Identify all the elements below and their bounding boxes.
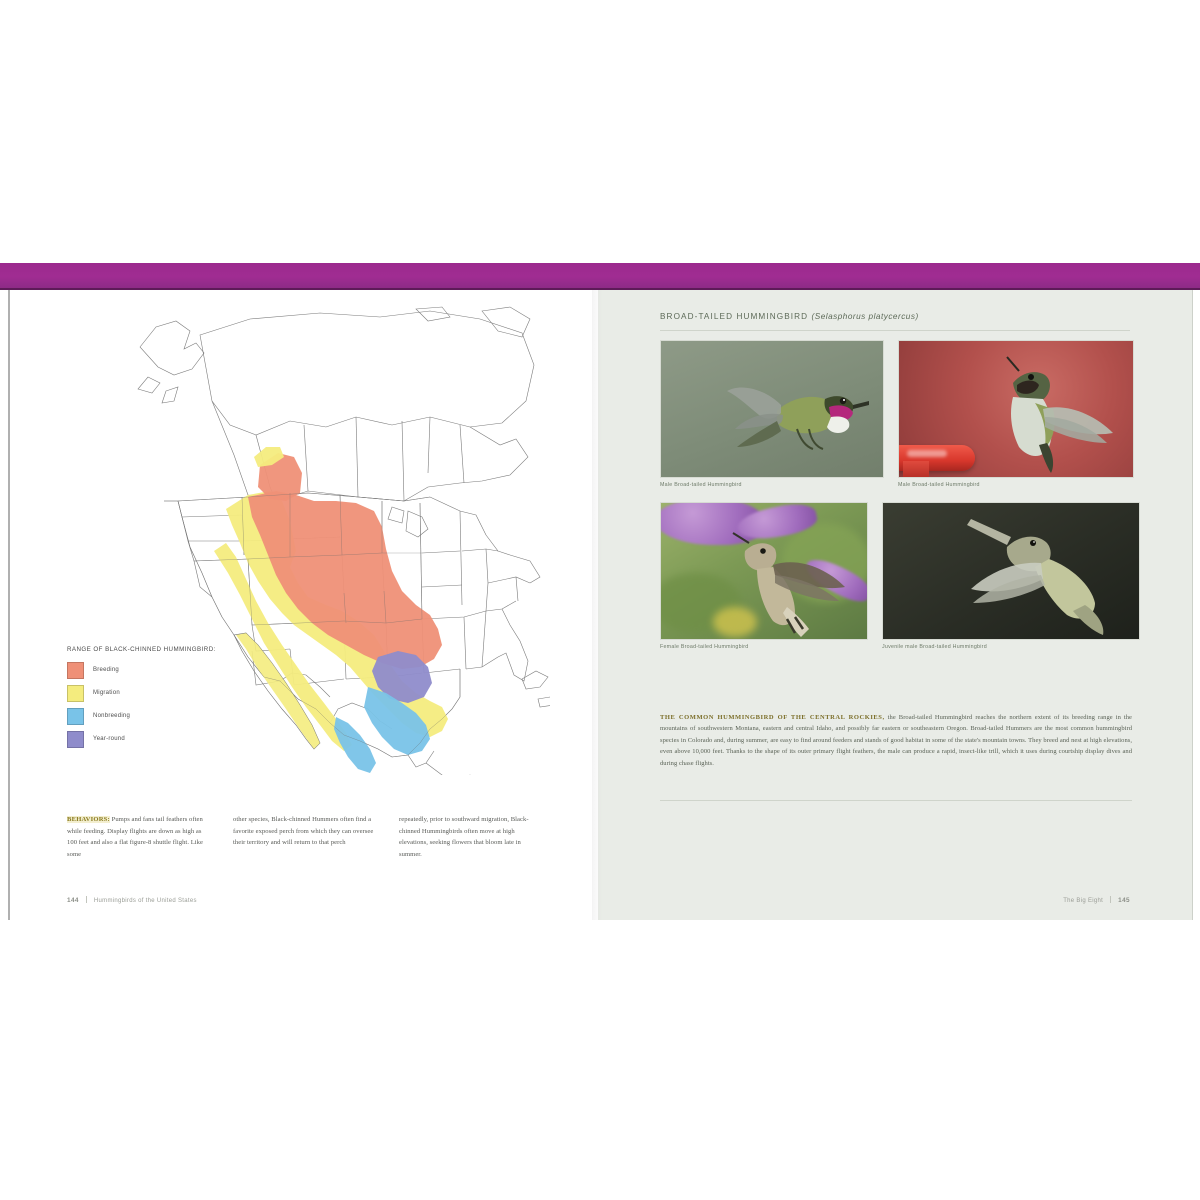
- legend-swatch-breeding: [67, 662, 84, 679]
- footer-divider-right: [1110, 896, 1111, 903]
- book-spread: RANGE OF BLACK-CHINNED HUMMINGBIRD: Bree…: [0, 263, 1200, 920]
- left-running-footer: Hummingbirds of the United States: [94, 898, 197, 904]
- left-folio-number: 144: [67, 897, 79, 904]
- photo-male-feeder: [898, 340, 1134, 478]
- right-page: BROAD-TAILED HUMMINGBIRD (Selasphorus pl…: [598, 290, 1193, 920]
- legend-item-breeding: Breeding: [67, 663, 227, 678]
- feeder-highlight: [907, 450, 947, 457]
- photo-caption-2: Male Broad-tailed Hummingbird: [898, 482, 1134, 488]
- hummingbird-illustration-3: [717, 529, 857, 639]
- photo-female-bush: [660, 502, 868, 640]
- map-legend: RANGE OF BLACK-CHINNED HUMMINGBIRD: Bree…: [67, 645, 227, 755]
- legend-label-year-round: Year-round: [93, 736, 125, 742]
- legend-swatch-migration: [67, 685, 84, 702]
- legend-item-nonbreeding: Nonbreeding: [67, 709, 227, 724]
- photo-cell-1: Male Broad-tailed Hummingbird: [660, 340, 884, 496]
- legend-label-nonbreeding: Nonbreeding: [93, 713, 130, 719]
- text-column-3: repeatedly, prior to southward migration…: [399, 814, 545, 860]
- photo-cell-2: Male Broad-tailed Hummingbird: [898, 340, 1134, 496]
- photo-cell-4: Juvenile male Broad-tailed Hummingbird: [882, 502, 1140, 658]
- hummingbird-illustration-4: [937, 519, 1127, 635]
- legend-item-year-round: Year-round: [67, 732, 227, 747]
- right-body-text: THE COMMON HUMMINGBIRD OF THE CENTRAL RO…: [660, 712, 1132, 769]
- behaviors-col3: repeatedly, prior to southward migration…: [399, 814, 545, 860]
- text-column-2: other species, Black-chinned Hummers oft…: [233, 814, 379, 860]
- species-common-name: BROAD-TAILED HUMMINGBIRD: [660, 312, 808, 321]
- legend-label-migration: Migration: [93, 690, 120, 696]
- behaviors-col2: other species, Black-chinned Hummers oft…: [233, 814, 379, 849]
- feeder-tube: [903, 461, 929, 478]
- right-running-footer: The Big Eight: [1063, 898, 1103, 904]
- heading-rule: [660, 330, 1130, 331]
- photo-row-bottom: Female Broad-tailed Hummingbird: [660, 502, 1136, 658]
- photo-row-top: Male Broad-tailed Hummingbird: [660, 340, 1136, 496]
- species-scientific-name: (Selasphorus platycercus): [812, 312, 919, 321]
- species-description: the Broad-tailed Hummingbird reaches the…: [660, 714, 1132, 767]
- photo-caption-3: Female Broad-tailed Hummingbird: [660, 644, 868, 650]
- purple-banner: [0, 263, 1200, 288]
- hummingbird-feeder: [898, 445, 975, 471]
- photo-caption-4: Juvenile male Broad-tailed Hummingbird: [882, 644, 1140, 650]
- legend-swatch-nonbreeding: [67, 708, 84, 725]
- hummingbird-illustration-2: [973, 355, 1123, 473]
- photo-grid: Male Broad-tailed Hummingbird: [660, 340, 1136, 664]
- left-page: RANGE OF BLACK-CHINNED HUMMINGBIRD: Bree…: [8, 290, 600, 920]
- legend-swatch-year-round: [67, 731, 84, 748]
- text-column-1: BEHAVIORS: Pumps and fans tail feathers …: [67, 814, 213, 860]
- right-folio-number: 145: [1118, 897, 1130, 904]
- photo-caption-1: Male Broad-tailed Hummingbird: [660, 482, 884, 488]
- photo-male-flight: [660, 340, 884, 478]
- footer-divider: [86, 896, 87, 903]
- hummingbird-illustration-1: [719, 367, 869, 467]
- photo-juvenile-dark: [882, 502, 1140, 640]
- lead-in-text: THE COMMON HUMMINGBIRD OF THE CENTRAL RO…: [660, 714, 885, 721]
- right-page-footer: The Big Eight 145: [1063, 895, 1130, 904]
- species-heading: BROAD-TAILED HUMMINGBIRD (Selasphorus pl…: [660, 312, 1130, 321]
- legend-item-migration: Migration: [67, 686, 227, 701]
- legend-title: RANGE OF BLACK-CHINNED HUMMINGBIRD:: [67, 645, 227, 655]
- left-page-footer: 144 Hummingbirds of the United States: [67, 895, 197, 904]
- left-body-text: BEHAVIORS: Pumps and fans tail feathers …: [67, 814, 545, 860]
- screenshot-canvas: RANGE OF BLACK-CHINNED HUMMINGBIRD: Bree…: [0, 0, 1200, 1200]
- behaviors-run-head: BEHAVIORS:: [67, 816, 110, 823]
- right-page-rule: [660, 800, 1132, 801]
- photo-cell-3: Female Broad-tailed Hummingbird: [660, 502, 868, 658]
- legend-label-breeding: Breeding: [93, 667, 119, 673]
